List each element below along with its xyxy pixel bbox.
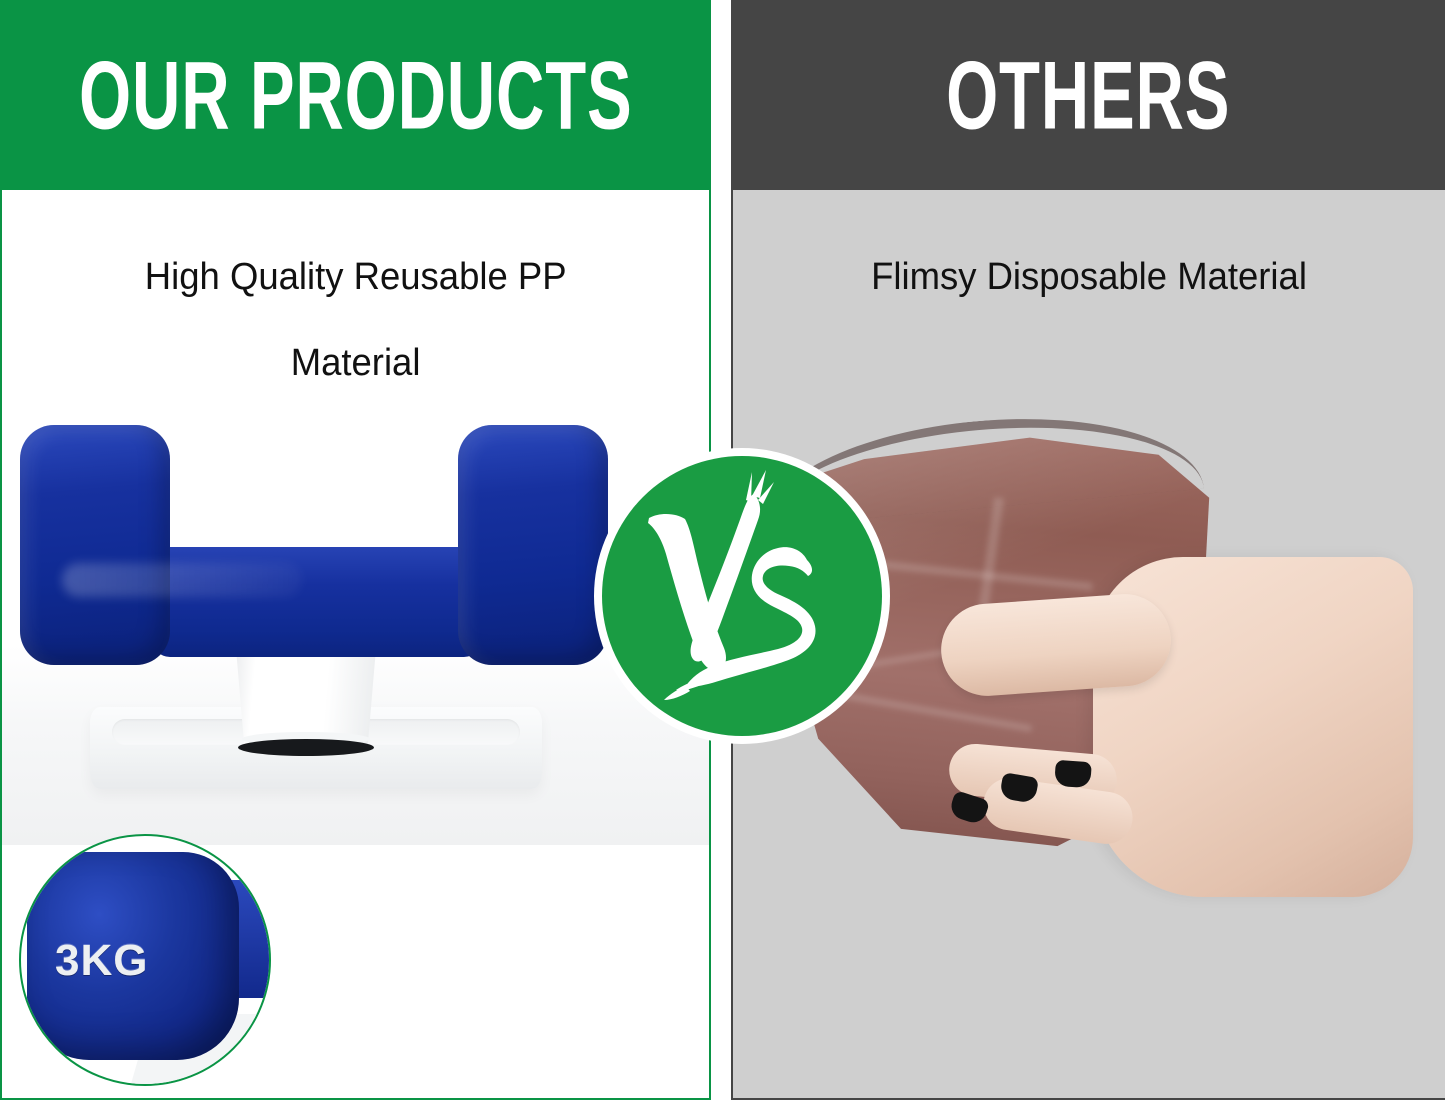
vs-icon: [602, 456, 882, 736]
fingernail: [1054, 760, 1092, 788]
dumbbell-head-left: [20, 425, 170, 665]
others-subtitle-line-1: Flimsy Disposable Material: [871, 234, 1307, 320]
others-header-title: OTHERS: [946, 48, 1230, 144]
our-products-header: OUR PRODUCTS: [0, 0, 711, 190]
thumb: [938, 591, 1174, 699]
vs-badge: [594, 448, 890, 744]
dumbbell-head-right: [458, 425, 608, 665]
others-subtitle-block: Flimsy Disposable Material: [733, 192, 1445, 377]
weight-label: 3KG: [55, 936, 148, 986]
our-products-header-title: OUR PRODUCTS: [79, 48, 632, 144]
dumbbell-highlight: [62, 563, 302, 597]
others-header: OTHERS: [731, 0, 1445, 190]
weight-closeup-inset: 3KG: [19, 834, 271, 1086]
our-products-subtitle-block: High Quality Reusable PP Material: [2, 192, 709, 377]
comparison-infographic: OUR PRODUCTS High Quality Reusable PP Ma…: [0, 0, 1445, 1100]
our-products-subtitle-line-1: High Quality Reusable PP: [145, 234, 567, 320]
